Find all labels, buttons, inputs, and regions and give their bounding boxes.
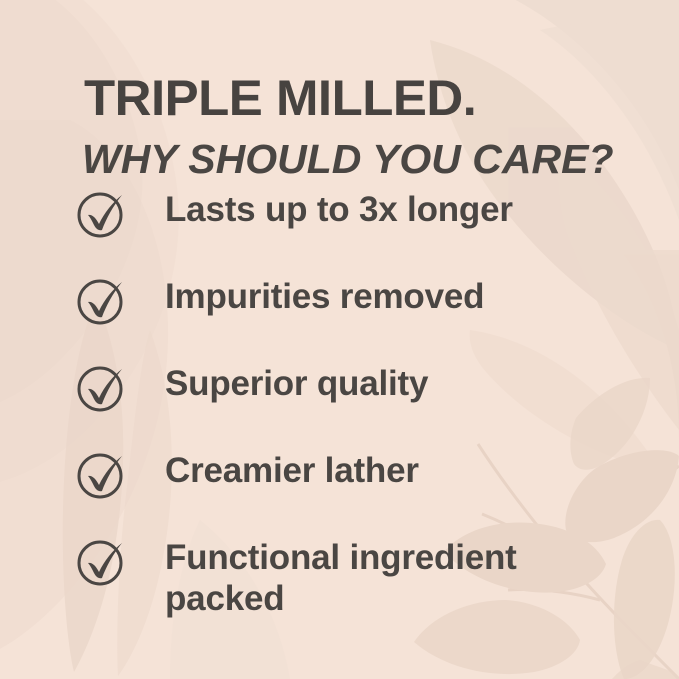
product-benefits-poster: TRIPLE MILLED. WHY SHOULD YOU CARE? Last… <box>0 0 679 679</box>
page-subtitle: WHY SHOULD YOU CARE? <box>82 138 614 181</box>
check-circle-icon <box>75 275 127 327</box>
benefit-list: Lasts up to 3x longer Impurities removed… <box>0 186 679 621</box>
check-circle-icon <box>75 188 127 240</box>
check-circle-icon <box>75 362 127 414</box>
list-item: Lasts up to 3x longer <box>0 186 679 273</box>
list-item: Creamier lather <box>0 447 679 534</box>
list-item-label: Functional ingredient packed <box>165 534 635 620</box>
check-circle-icon <box>75 449 127 501</box>
list-item-label: Superior quality <box>165 360 428 405</box>
list-item-label: Lasts up to 3x longer <box>165 186 513 231</box>
list-item-label: Impurities removed <box>165 273 484 318</box>
list-item-label: Creamier lather <box>165 447 419 492</box>
list-item: Impurities removed <box>0 273 679 360</box>
page-title: TRIPLE MILLED. <box>84 72 476 124</box>
list-item: Superior quality <box>0 360 679 447</box>
list-item: Functional ingredient packed <box>0 534 679 621</box>
check-circle-icon <box>75 536 127 588</box>
